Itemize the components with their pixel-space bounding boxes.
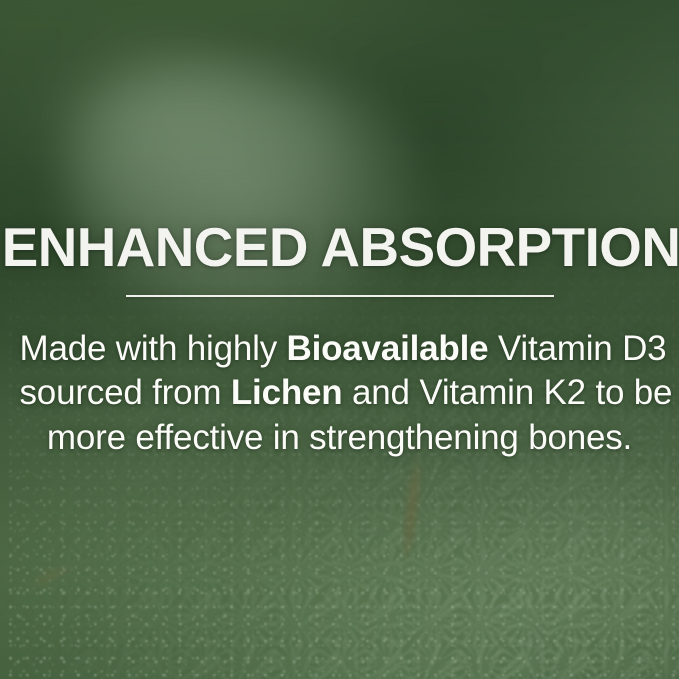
promo-banner: ENHANCED ABSORPTION Made with highly Bio… xyxy=(0,0,679,679)
divider-rule xyxy=(126,295,554,297)
body-emphasis: Lichen xyxy=(231,373,343,412)
body-text: more effective in strengthening bones. xyxy=(47,418,632,457)
body-text: and Vitamin K2 to be xyxy=(342,373,672,412)
headline: ENHANCED ABSORPTION xyxy=(2,219,678,275)
body-text: Vitamin D3 xyxy=(488,329,666,368)
body-text: Made with highly xyxy=(20,329,287,368)
body-text: sourced from xyxy=(20,373,231,412)
body-copy: Made with highly Bioavailable Vitamin D3… xyxy=(20,327,660,460)
body-emphasis: Bioavailable xyxy=(287,329,489,368)
body-line: more effective in strengthening bones. xyxy=(20,416,660,460)
body-line: Made with highly Bioavailable Vitamin D3 xyxy=(20,327,660,371)
body-line: sourced from Lichen and Vitamin K2 to be xyxy=(20,371,660,415)
banner-content: ENHANCED ABSORPTION Made with highly Bio… xyxy=(0,0,679,679)
